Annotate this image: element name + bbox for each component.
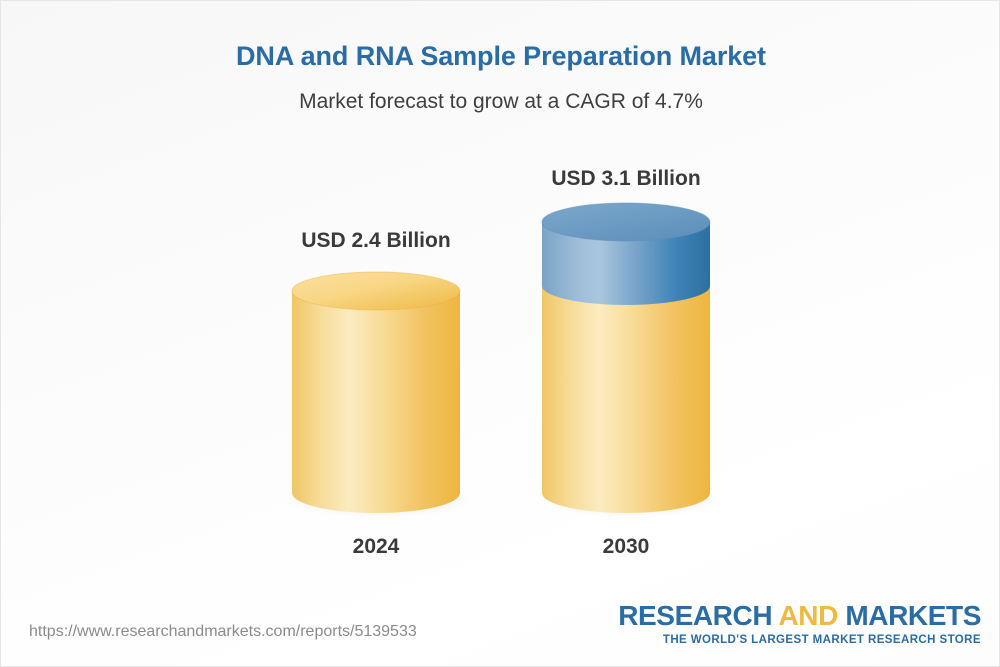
bar-2030-category-label: 2030 <box>542 535 710 559</box>
bar-2030-value-label: USD 3.1 Billion <box>542 167 710 191</box>
report-url-link[interactable]: https://www.researchandmarkets.com/repor… <box>29 623 417 641</box>
bar-2024-category-label: 2024 <box>292 535 460 559</box>
research-and-markets-logo[interactable]: RESEARCH AND MARKETS THE WORLD'S LARGEST… <box>618 602 981 646</box>
bar-2024-value-label: USD 2.4 Billion <box>292 229 460 253</box>
logo-wordmark: RESEARCH AND MARKETS <box>618 602 981 631</box>
cylinder-2024-shape <box>292 273 460 519</box>
bar-2030 <box>542 203 710 511</box>
infographic-card: DNA and RNA Sample Preparation Market Ma… <box>0 0 1000 667</box>
logo-and-text: AND <box>778 600 837 631</box>
logo-research-text: RESEARCH <box>618 600 772 631</box>
logo-markets-text: MARKETS <box>845 600 981 631</box>
cylinder-2030-shape <box>542 203 710 519</box>
bar-2024 <box>292 273 460 511</box>
cylinder-bar-chart: USD 2.4 Billion 2024 <box>1 1 1000 601</box>
logo-tagline: THE WORLD'S LARGEST MARKET RESEARCH STOR… <box>618 634 981 646</box>
